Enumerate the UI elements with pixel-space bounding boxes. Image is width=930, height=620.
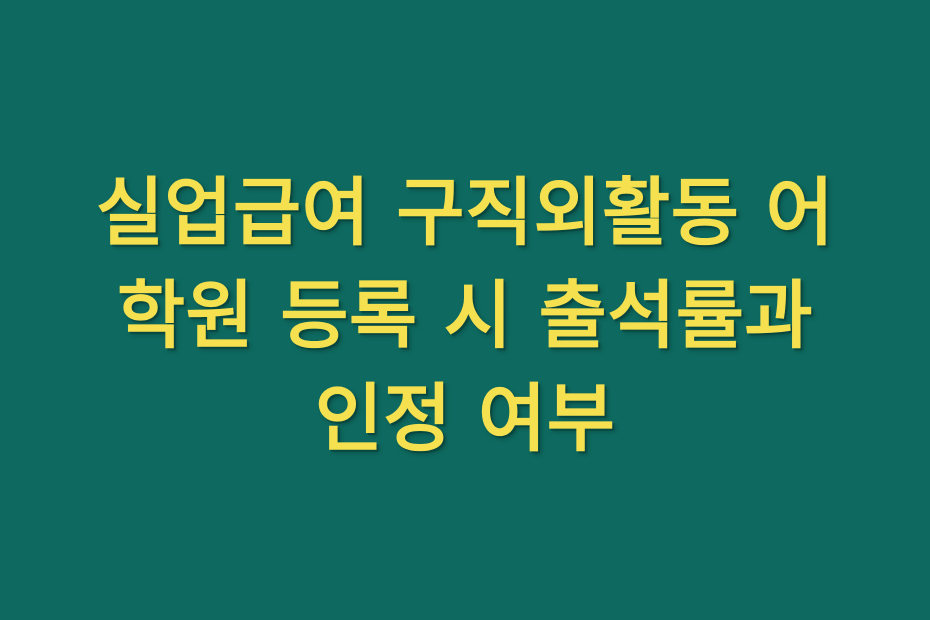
headline-block: 실업급여 구직외활동 어 학원 등록 시 출석률과 인정 여부 [0, 162, 930, 471]
headline-line-2: 학원 등록 시 출석률과 [34, 265, 896, 368]
headline-line-1: 실업급여 구직외활동 어 [34, 162, 896, 265]
title-card: 실업급여 구직외활동 어 학원 등록 시 출석률과 인정 여부 [0, 0, 930, 620]
headline-line-3: 인정 여부 [34, 368, 896, 471]
